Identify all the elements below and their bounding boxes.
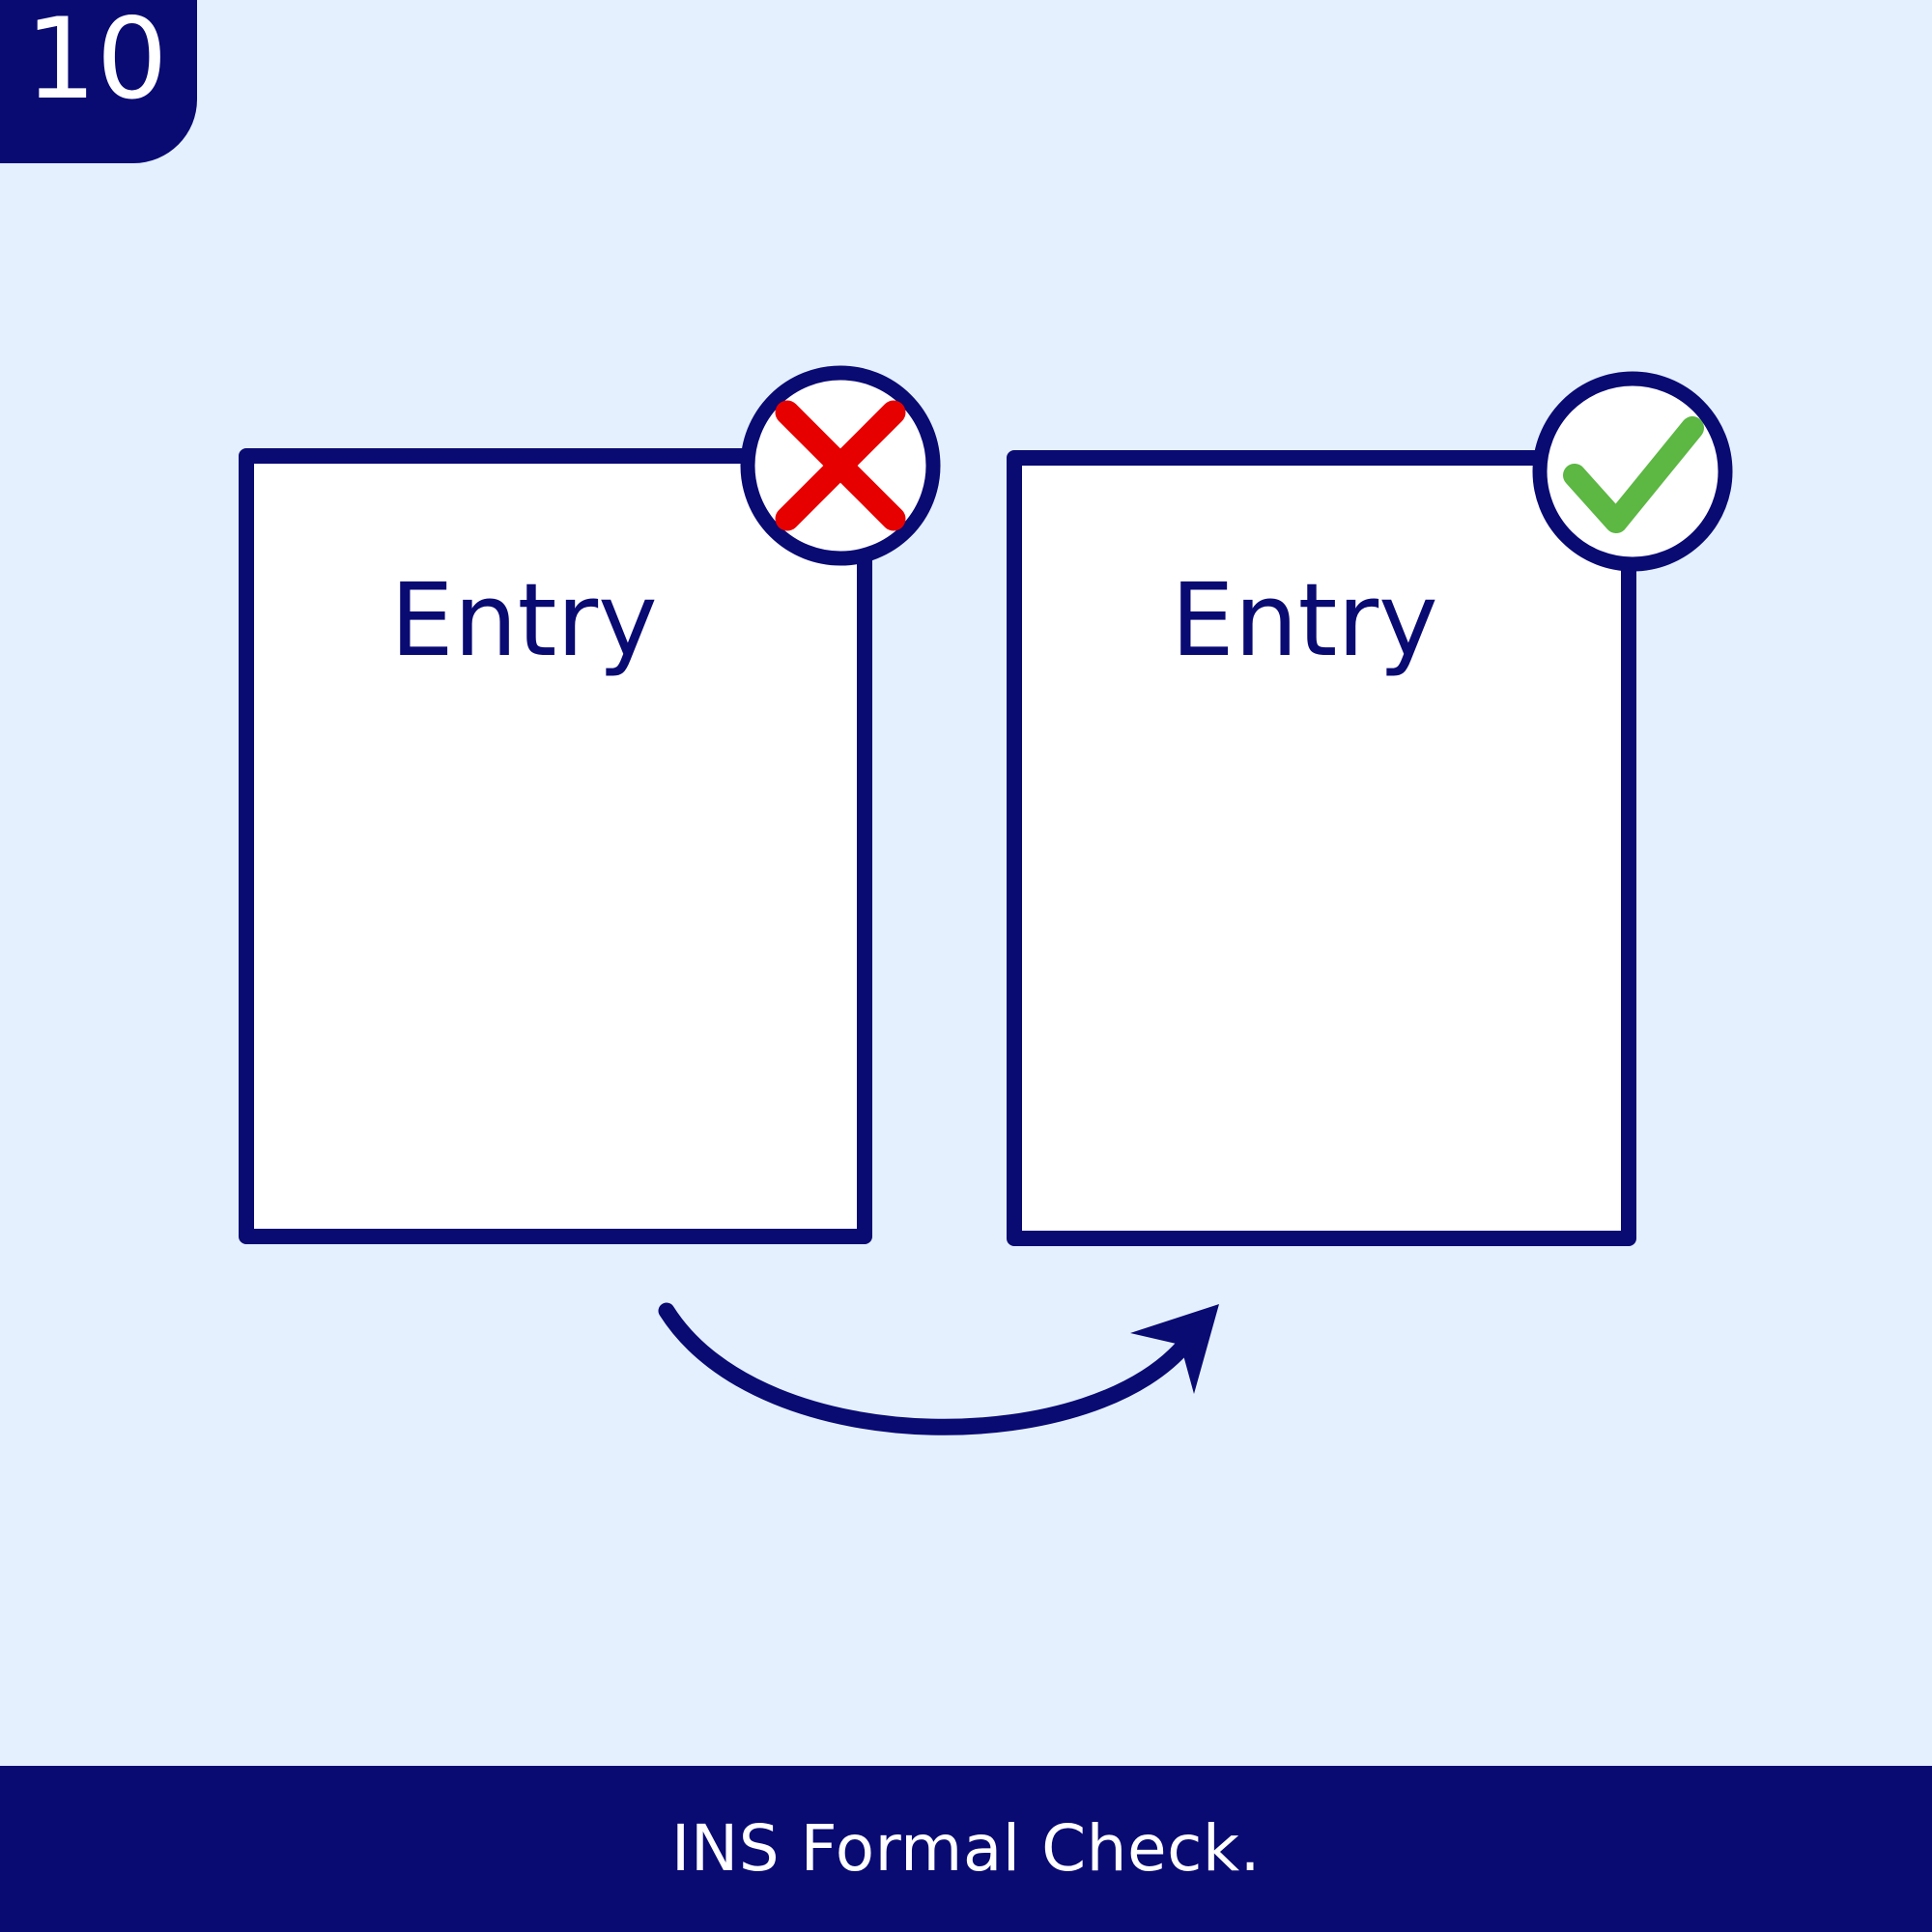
step-number-badge: 10	[0, 0, 197, 163]
arrow-curve	[667, 1311, 1190, 1427]
diagram-stage: Entry Entry	[0, 0, 1932, 1766]
panel-entry-rejected[interactable]	[246, 373, 933, 1236]
entry-label-right: Entry	[1171, 570, 1438, 670]
status-badge-cross[interactable]	[748, 373, 933, 558]
panel-entry-accepted[interactable]	[1014, 379, 1725, 1238]
caption-text: INS Formal Check.	[671, 1817, 1261, 1881]
step-number-label: 10	[25, 4, 168, 116]
curved-correction-arrow	[667, 1304, 1219, 1427]
slide-canvas: Entry Entry 10 INS Formal Check.	[0, 0, 1932, 1932]
status-badge-check[interactable]	[1540, 379, 1725, 564]
entry-label-left: Entry	[390, 570, 658, 670]
diagram-illustration	[0, 0, 1932, 1766]
caption-banner: INS Formal Check.	[0, 1766, 1932, 1932]
